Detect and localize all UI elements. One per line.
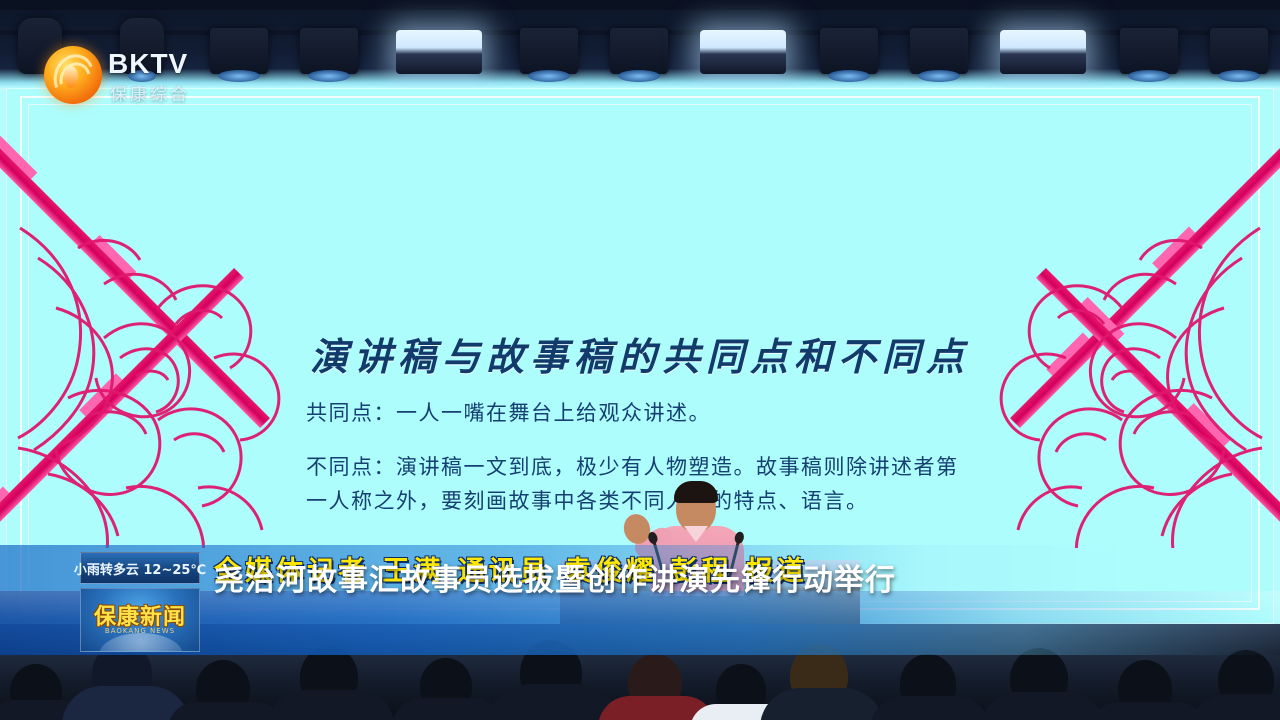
flame-swirl-icon [44, 46, 102, 104]
stage-light [910, 28, 968, 74]
channel-logo: BKTV 保康综合 [44, 44, 214, 106]
stage-light [610, 28, 668, 74]
slide-paragraph-common: 共同点：一人一嘴在舞台上给观众讲述。 [306, 396, 976, 430]
stage-light [1120, 28, 1178, 74]
stage-light [1210, 28, 1268, 74]
channel-logo-text: BKTV [108, 48, 188, 80]
stage-light [300, 28, 358, 74]
program-bug: 保康新闻 BAOKANG NEWS [80, 588, 200, 652]
broadcast-frame: 演讲稿与故事稿的共同点和不同点 共同点：一人一嘴在舞台上给观众讲述。 不同点：演… [0, 0, 1280, 720]
stage-light [520, 28, 578, 74]
stage-light [820, 28, 878, 74]
channel-logo-subtitle: 保康综合 [110, 80, 190, 105]
weather-text: 小雨转多云 12~25℃ [74, 559, 206, 578]
slide-title: 演讲稿与故事稿的共同点和不同点 [6, 326, 1274, 381]
stage-light [1000, 30, 1086, 74]
stage-light [396, 30, 482, 74]
program-bug-subtitle: BAOKANG NEWS [81, 627, 199, 635]
weather-widget: 小雨转多云 12~25℃ [80, 552, 200, 584]
stage-light [210, 28, 268, 74]
speaker [636, 484, 756, 594]
stage-light [700, 30, 786, 74]
